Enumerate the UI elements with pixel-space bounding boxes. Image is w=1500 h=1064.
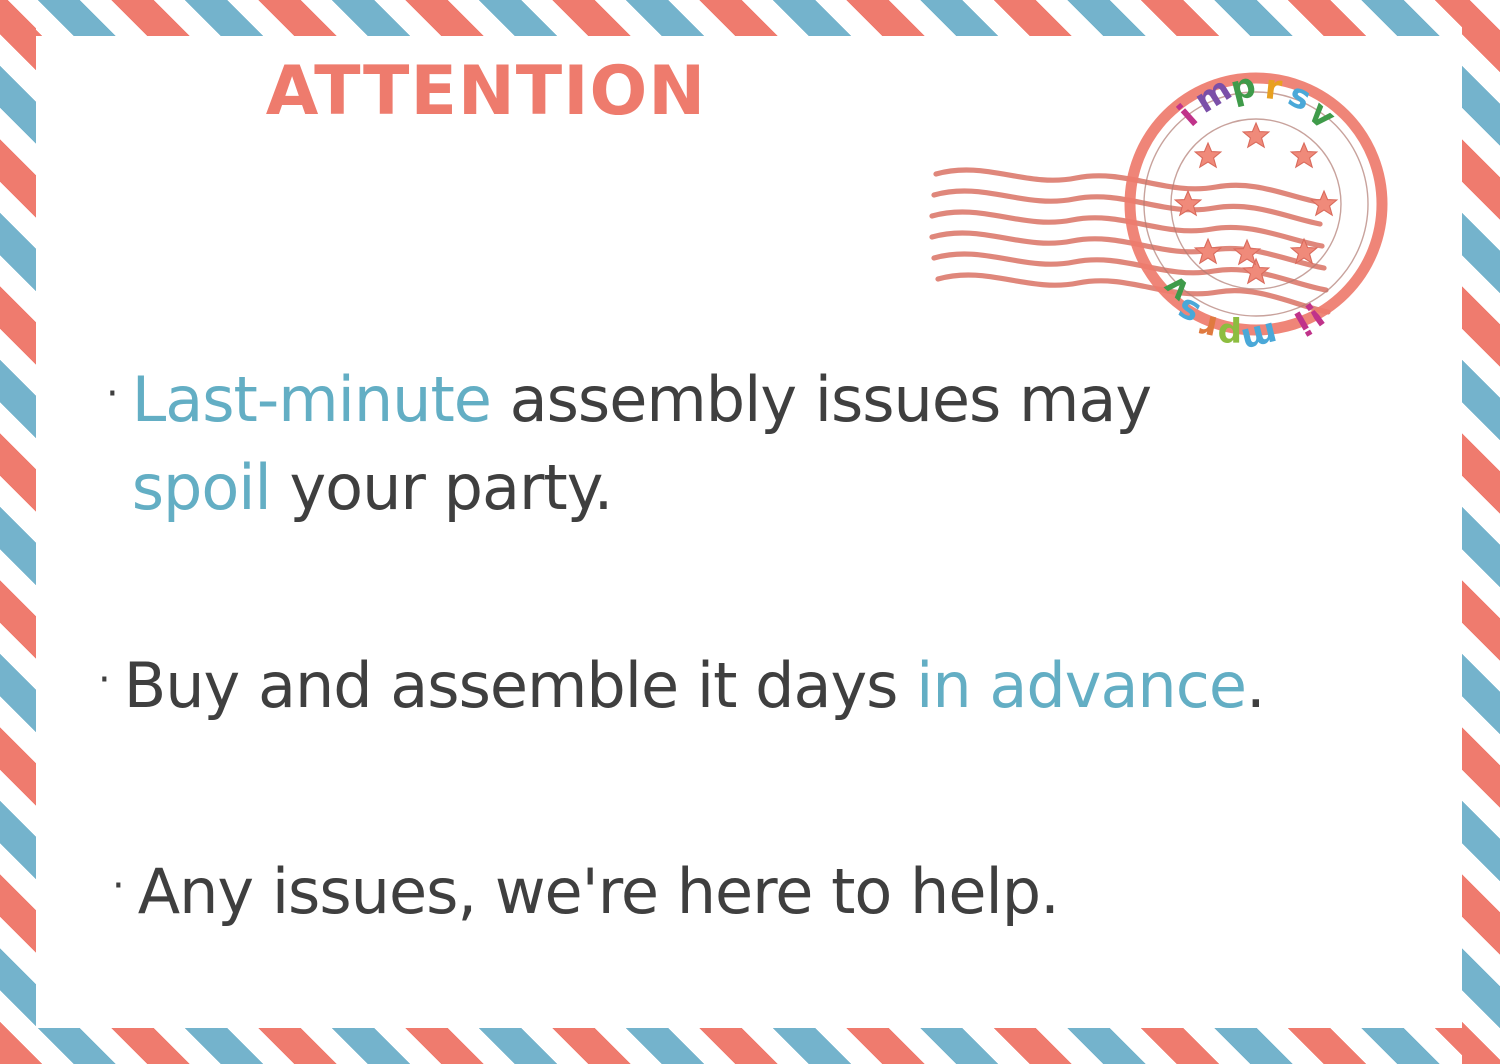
postmark-stamp: i m p r s v v s r p m i !: [916, 56, 1426, 356]
bullet-2-segment-3: .: [1246, 649, 1265, 722]
svg-text:p: p: [1218, 315, 1242, 355]
airmail-border-bottom: [0, 1028, 1500, 1064]
stamp-bottom-text: v s r p m i !: [1155, 266, 1332, 356]
bullet-2-segment-1: Buy and assemble it days: [124, 649, 916, 722]
bullet-1-segment-3: spoil: [132, 451, 271, 524]
bullet-marker: ·: [112, 848, 124, 924]
bullet-text: Buy and assemble it days in advance.: [124, 642, 1458, 730]
svg-text:m: m: [1237, 313, 1281, 356]
airmail-border-left: [0, 0, 36, 1064]
list-item: · Any issues, we're here to help.: [112, 848, 1452, 936]
list-item: · Last-minute assembly issues may spoil …: [106, 356, 1286, 532]
bullet-2-segment-2: in advance: [916, 649, 1246, 722]
svg-text:r: r: [1263, 67, 1284, 109]
bullet-1-segment-1: Last-minute: [132, 363, 491, 436]
postmark-stamp-icon: i m p r s v v s r p m i !: [916, 56, 1426, 356]
bullet-text: Last-minute assembly issues may spoil yo…: [132, 356, 1286, 532]
card-content: ATTENTION: [36, 36, 1462, 1028]
list-item: · Buy and assemble it days in advance.: [98, 642, 1458, 730]
attention-card: ATTENTION: [0, 0, 1500, 1064]
bullet-text: Any issues, we're here to help.: [138, 848, 1452, 936]
bullet-1-segment-4: your party.: [271, 451, 613, 524]
page-title: ATTENTION: [36, 58, 936, 126]
airmail-border-right: [1462, 0, 1500, 1064]
airmail-border-top: [0, 0, 1500, 36]
bullet-1-segment-2: assembly issues may: [491, 363, 1151, 436]
bullet-marker: ·: [106, 356, 118, 432]
bullet-3-segment-1: Any issues, we're here to help.: [138, 855, 1059, 928]
bullet-marker: ·: [98, 642, 110, 718]
